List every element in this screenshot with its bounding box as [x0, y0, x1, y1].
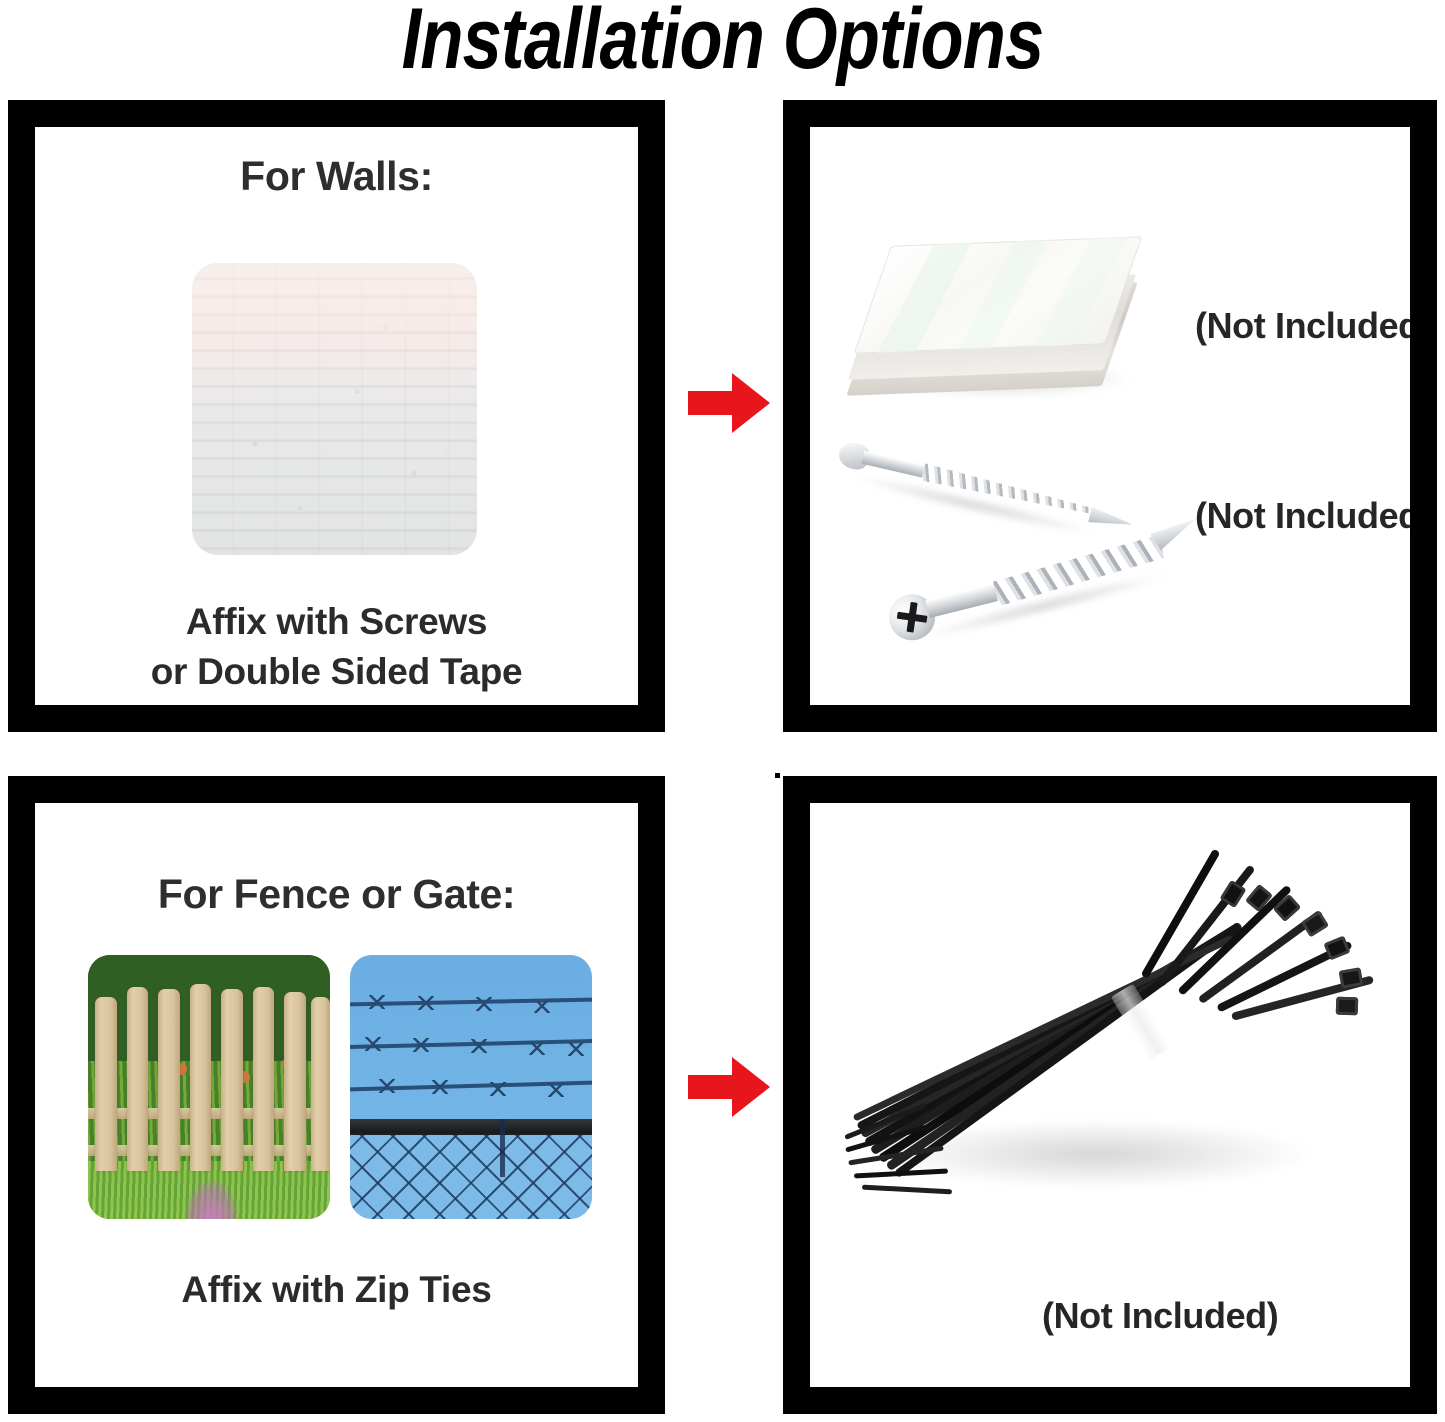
fence-post	[500, 1119, 505, 1177]
picket-1	[95, 997, 117, 1171]
walls-caption-line-2: or Double Sided Tape	[35, 651, 638, 693]
barb-3b	[432, 1080, 448, 1094]
double-sided-tape-stack-photo	[858, 235, 1148, 425]
barb-2d	[529, 1041, 545, 1055]
screw-lower	[883, 517, 1209, 658]
barb-2c	[471, 1039, 487, 1053]
screw-upper	[832, 432, 1137, 554]
panel-wall-hardware-content: (Not Included)	[810, 127, 1410, 705]
panel-wall-hardware: (Not Included)	[783, 100, 1437, 732]
barb-1a	[369, 995, 385, 1009]
fence-caption-line-1: Affix with Zip Ties	[35, 1269, 638, 1311]
wooden-picket-fence-photo	[88, 955, 330, 1219]
picket-4	[190, 984, 212, 1171]
tip-4	[854, 1169, 948, 1179]
picket-2	[127, 987, 149, 1172]
barb-1c	[476, 997, 492, 1011]
tape-top-face	[854, 236, 1143, 353]
barb-3c	[490, 1082, 506, 1096]
screws-not-included-label: (Not Included)	[1195, 495, 1410, 537]
red-right-arrow-icon-bottom	[688, 1055, 770, 1119]
barb-2a	[365, 1037, 381, 1051]
chain-link-mesh	[350, 1135, 592, 1219]
zip-ties-tips	[842, 1113, 962, 1211]
page-title: Installation Options	[130, 0, 1315, 84]
red-right-arrow-icon-top	[688, 371, 770, 435]
panel-for-walls-content: For Walls: Affix with Screws or Double S…	[35, 127, 638, 705]
picket-3	[158, 989, 180, 1171]
barb-3d	[548, 1083, 564, 1097]
picket-6	[253, 987, 275, 1172]
zip-ties-heads-fan	[1136, 885, 1392, 1085]
panel-for-walls: For Walls: Affix with Screws or Double S…	[8, 100, 665, 732]
panel-for-fence-or-gate: For Fence or Gate:	[8, 776, 665, 1414]
wood-screws-photo	[826, 447, 1176, 677]
tie-head-7	[1336, 997, 1359, 1016]
picket-7	[284, 992, 306, 1172]
tie-head-5	[1339, 967, 1364, 989]
panel-for-fence-content: For Fence or Gate:	[35, 803, 638, 1387]
barb-2e	[568, 1042, 584, 1056]
barb-2b	[413, 1038, 429, 1052]
panel-fence-hardware-content: (Not Included)	[810, 803, 1410, 1387]
panel-fence-hardware: (Not Included)	[783, 776, 1437, 1414]
barb-1b	[418, 996, 434, 1010]
tape-not-included-label: (Not Included)	[1195, 305, 1410, 347]
fence-path	[185, 1181, 238, 1219]
walls-caption-line-1: Affix with Screws	[35, 601, 638, 643]
scan-artifact-dot	[775, 773, 780, 778]
barb-1d	[534, 999, 550, 1013]
barb-3a	[379, 1079, 395, 1093]
for-fence-heading: For Fence or Gate:	[35, 871, 638, 918]
zip-ties-not-included-label: (Not Included)	[1042, 1295, 1278, 1337]
tip-5	[862, 1185, 952, 1195]
tape-sheet-divisions	[854, 236, 1143, 353]
white-brick-wall-photo	[192, 263, 477, 555]
picket-8	[311, 997, 330, 1171]
black-zip-ties-bundle-photo	[836, 881, 1392, 1241]
chain-link-barbed-wire-fence-photo	[350, 955, 592, 1219]
brick-top-tint	[192, 263, 477, 555]
tie-head-3	[1301, 911, 1329, 938]
tip-3	[848, 1146, 944, 1166]
installation-options-infographic: Installation Options For Walls: Affix wi…	[0, 0, 1445, 1422]
picket-5	[221, 989, 243, 1171]
for-walls-heading: For Walls:	[35, 153, 638, 200]
